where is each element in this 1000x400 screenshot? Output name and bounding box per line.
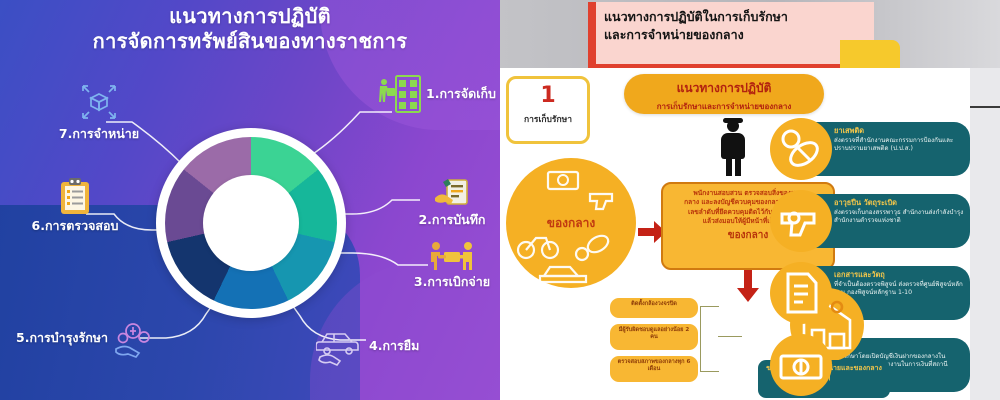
- category-icon-circle-4: [770, 334, 832, 396]
- storage-notes-connector: [718, 336, 742, 337]
- step-label-2: 2.การบันทึก: [404, 210, 500, 230]
- document-hand-icon: [433, 178, 471, 210]
- pills-icon: [576, 232, 611, 260]
- gears-hand-icon: [113, 318, 157, 358]
- warehouse-worker-icon: [378, 74, 422, 114]
- step-node-1[interactable]: 1.การจัดเก็บ: [378, 74, 496, 114]
- motorbike-icon: [518, 238, 558, 258]
- badge-number: 1: [509, 85, 587, 107]
- step-node-3[interactable]: 3.การเบิกจ่าย: [404, 240, 500, 292]
- category-tag-2: อาวุธปืน วัตถุระเบิด ส่งตรวจเก็บกองสรรพา…: [810, 194, 970, 248]
- pill-line2: การเก็บรักษาและการจำหน่ายของกลาง: [624, 100, 824, 113]
- step-node-5[interactable]: 5.การบำรุงรักษา: [16, 318, 157, 358]
- storage-note-2: มีผู้รับผิดชอบดูแลอย่างน้อย 2 คน: [610, 324, 698, 350]
- left-panel-asset-management: แนวทางการปฏิบัติ การจัดการทรัพย์สินของทา…: [0, 0, 500, 400]
- category-body-1: ส่งตรวจที่สำนักงานคณะกรรมการป้องกันและปร…: [834, 137, 964, 153]
- category-row-weapons[interactable]: อาวุธปืน วัตถุระเบิด ส่งตรวจเก็บกองสรรพา…: [770, 190, 970, 252]
- pills-icon: [770, 118, 832, 180]
- right-edge-rule: [970, 106, 1000, 108]
- badge-caption: การเก็บรักษา: [509, 112, 587, 126]
- gun-icon: [590, 194, 612, 209]
- category-tag-1: ยาเสพติด ส่งตรวจที่สำนักงานคณะกรรมการป้อ…: [810, 122, 970, 176]
- step-label-5: 5.การบำรุงรักษา: [16, 328, 108, 348]
- donut-center-hole: [203, 175, 299, 271]
- evidence-source-circle: ของกลาง: [506, 158, 636, 288]
- right-banner-title: แนวทางการปฏิบัติในการเก็บรักษา และการจำห…: [604, 8, 870, 44]
- step-label-7: 7.การจำหน่าย: [34, 124, 164, 144]
- step-label-6: 6.การตรวจสอบ: [10, 216, 140, 236]
- gun-icon: [770, 190, 832, 252]
- category-title-2: อาวุธปืน วัตถุระเบิด: [834, 198, 964, 207]
- category-title-3: เอกสารและวัตถุ: [834, 270, 964, 279]
- category-row-narcotics[interactable]: ยาเสพติด ส่งตรวจที่สำนักงานคณะกรรมการป้อ…: [770, 118, 970, 180]
- step-label-4: 4.การยืม: [369, 336, 419, 356]
- officer-body: [721, 133, 745, 159]
- banknote-icon: [770, 334, 832, 396]
- step-node-4[interactable]: 4.การยืม: [316, 326, 419, 366]
- category-icon-circle-1: [770, 118, 832, 180]
- yellow-tab-accent: [840, 40, 900, 70]
- right-panel-evidence-custody: แนวทางการปฏิบัติในการเก็บรักษา และการจำห…: [500, 0, 1000, 400]
- right-banner-title-line2: และการจำหน่ายของกลาง: [604, 26, 870, 44]
- car-icon: [540, 267, 586, 282]
- pill-line1: แนวทางการปฏิบัติ: [624, 79, 824, 98]
- step-label-1: 1.การจัดเก็บ: [426, 84, 496, 104]
- right-banner-title-line1: แนวทางการปฏิบัติในการเก็บรักษา: [604, 8, 870, 26]
- document-icon: [770, 262, 832, 324]
- process-donut-chart: [156, 128, 346, 318]
- box-arrows-icon: [77, 80, 121, 124]
- evidence-source-label: ของกลาง: [506, 214, 636, 233]
- category-body-2: ส่งตรวจเก็บกองสรรพาวุธ สำนักงานส่งกำลังบ…: [834, 209, 964, 225]
- car-hand-icon: [316, 326, 364, 366]
- left-title-line2: การจัดการทรัพย์สินของทางราชการ: [0, 29, 500, 54]
- step-node-6[interactable]: 6.การตรวจสอบ: [10, 178, 140, 236]
- category-row-documents[interactable]: เอกสารและวัตถุ ที่จำเป็นต้องตรวจพิสูจน์ …: [770, 262, 970, 324]
- clipboard-check-icon: [58, 178, 92, 216]
- officer-leg-left: [726, 158, 732, 176]
- section-badge-1: 1 การเก็บรักษา: [506, 76, 590, 144]
- category-icon-circle-3: [770, 262, 832, 324]
- left-title-line1: แนวทางการปฏิบัติ: [0, 4, 500, 29]
- storage-note-3: ตรวจสอบสภาพของกลางทุก 6 เดือน: [610, 356, 698, 382]
- handover-box-icon: [428, 240, 476, 272]
- category-title-1: ยาเสพติด: [834, 126, 964, 135]
- officer-leg-right: [735, 158, 741, 176]
- step-node-2[interactable]: 2.การบันทึก: [404, 178, 500, 230]
- step-label-3: 3.การเบิกจ่าย: [404, 272, 500, 292]
- storage-notes-bracket: [700, 306, 719, 372]
- storage-note-1: ติดตั้งกล้องวงจรปิด: [610, 298, 698, 318]
- police-officer-icon: [716, 120, 750, 176]
- step-node-7[interactable]: 7.การจำหน่าย: [34, 80, 164, 144]
- officer-head: [727, 120, 739, 132]
- left-title-block: แนวทางการปฏิบัติ การจัดการทรัพย์สินของทา…: [0, 4, 500, 54]
- right-grey-edge: [970, 68, 1000, 400]
- right-header-pill: แนวทางการปฏิบัติ การเก็บรักษาและการจำหน่…: [624, 74, 824, 114]
- category-icon-circle-2: [770, 190, 832, 252]
- infographic-stage: แนวทางการปฏิบัติ การจัดการทรัพย์สินของทา…: [0, 0, 1000, 400]
- money-icon: [548, 172, 578, 189]
